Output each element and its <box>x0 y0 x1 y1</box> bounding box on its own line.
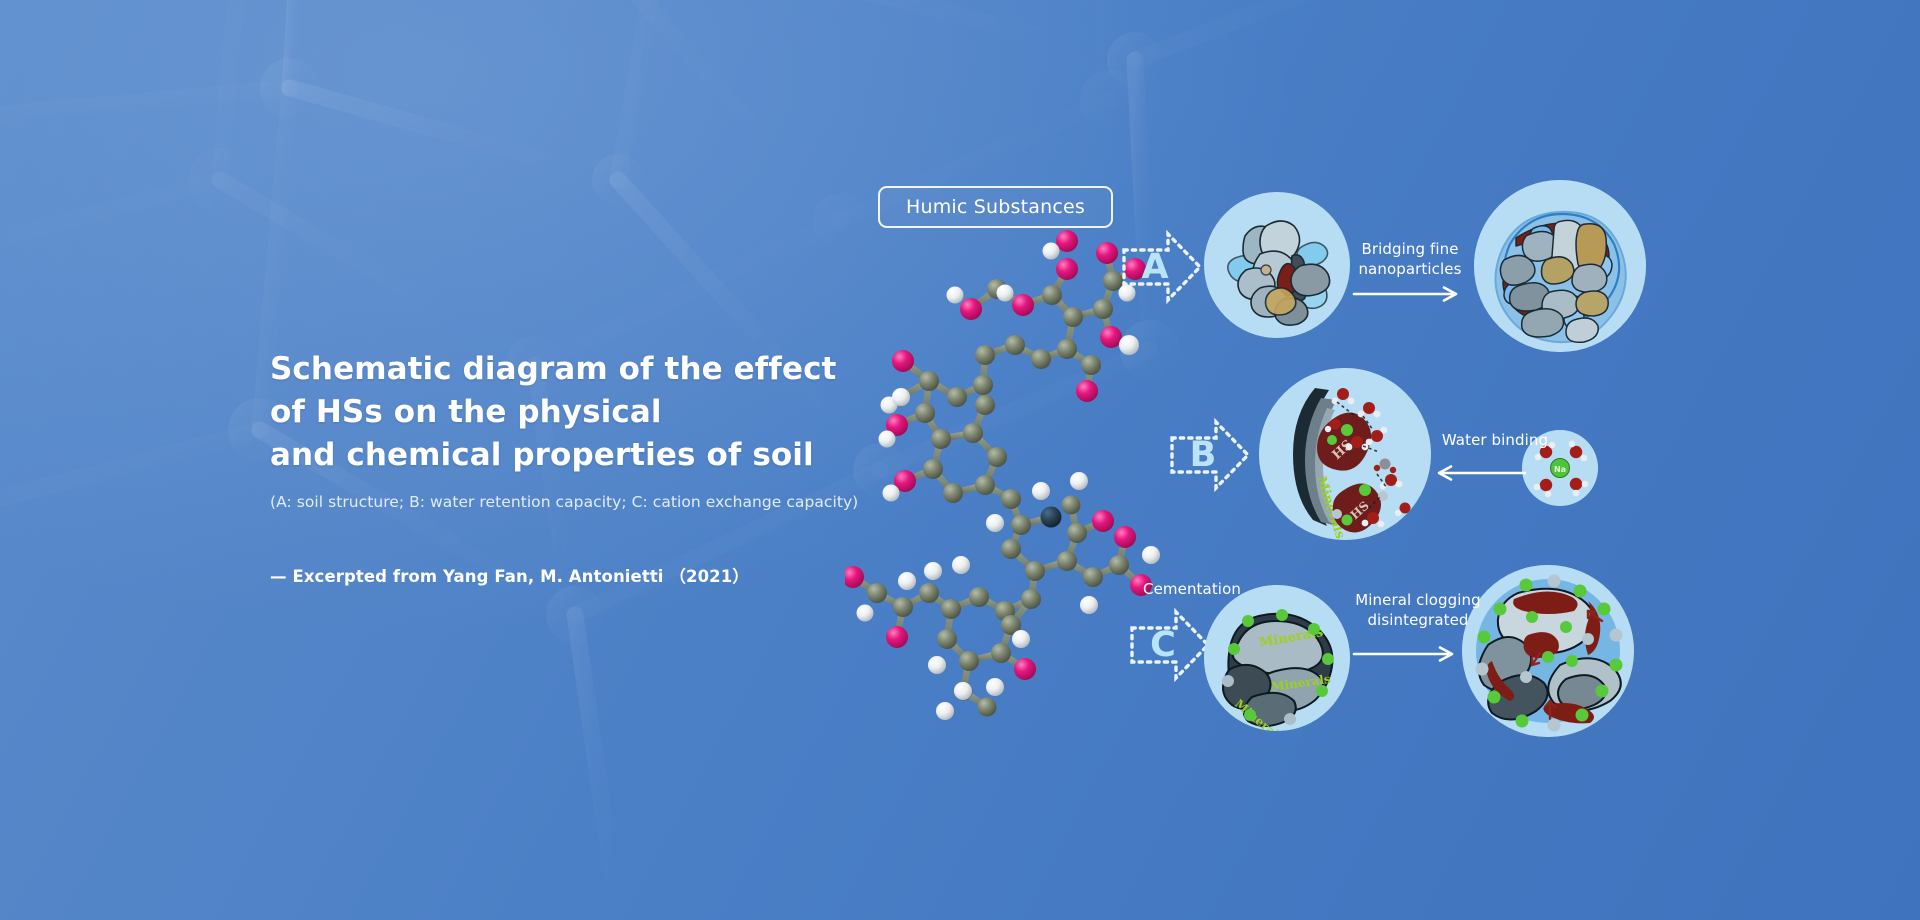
nitrogen-atom <box>1041 507 1062 528</box>
flow-arrow-a-letter: A <box>1120 228 1204 306</box>
cation-inline-label: Na <box>1554 465 1566 474</box>
headline-line-1: Schematic diagram of the effect <box>270 348 930 391</box>
connector-arrow-b <box>1437 463 1527 489</box>
page-title: Schematic diagram of the effect of HSs o… <box>270 348 930 477</box>
connector-arrow-c <box>1352 644 1464 670</box>
flow-arrow-b: B <box>1168 416 1252 494</box>
cementation-caption: Cementation <box>1143 580 1263 598</box>
humic-substances-label: Humic Substances <box>906 196 1085 218</box>
headline-block: Schematic diagram of the effect of HSs o… <box>270 348 930 587</box>
flow-arrow-b-letter: B <box>1168 416 1252 494</box>
flow-arrow-c-caption: Mineral clogging disintegrated <box>1352 590 1484 630</box>
circle-minerals-cemented: Minerals Minerals Minerals <box>1204 585 1350 731</box>
source-credit: — Excerpted from Yang Fan, M. Antonietti… <box>270 563 930 587</box>
flow-arrow-a: A <box>1120 228 1204 306</box>
legend-note: (A: soil structure; B: water retention c… <box>270 493 930 511</box>
flow-arrow-c-letter: C <box>1128 606 1212 684</box>
poster-canvas: Schematic diagram of the effect of HSs o… <box>0 0 1920 920</box>
circle-hs-mineral-water-shell: Minerals HS HS <box>1259 368 1431 540</box>
connector-arrow-a <box>1352 284 1468 310</box>
headline-line-3: and chemical properties of soil <box>270 434 930 477</box>
flow-arrow-c: C <box>1128 606 1212 684</box>
flow-arrow-a-caption: Bridging fine nanoparticles <box>1349 239 1471 279</box>
circle-soil-aggregate-bridged <box>1474 180 1646 352</box>
circle-soil-aggregate-loose <box>1204 192 1350 338</box>
headline-line-2: of HSs on the physical <box>270 391 930 434</box>
flow-arrow-b-caption: Water binding <box>1438 430 1552 450</box>
humic-substances-badge: Humic Substances <box>878 186 1113 228</box>
circle-minerals-disintegrated <box>1462 565 1634 737</box>
